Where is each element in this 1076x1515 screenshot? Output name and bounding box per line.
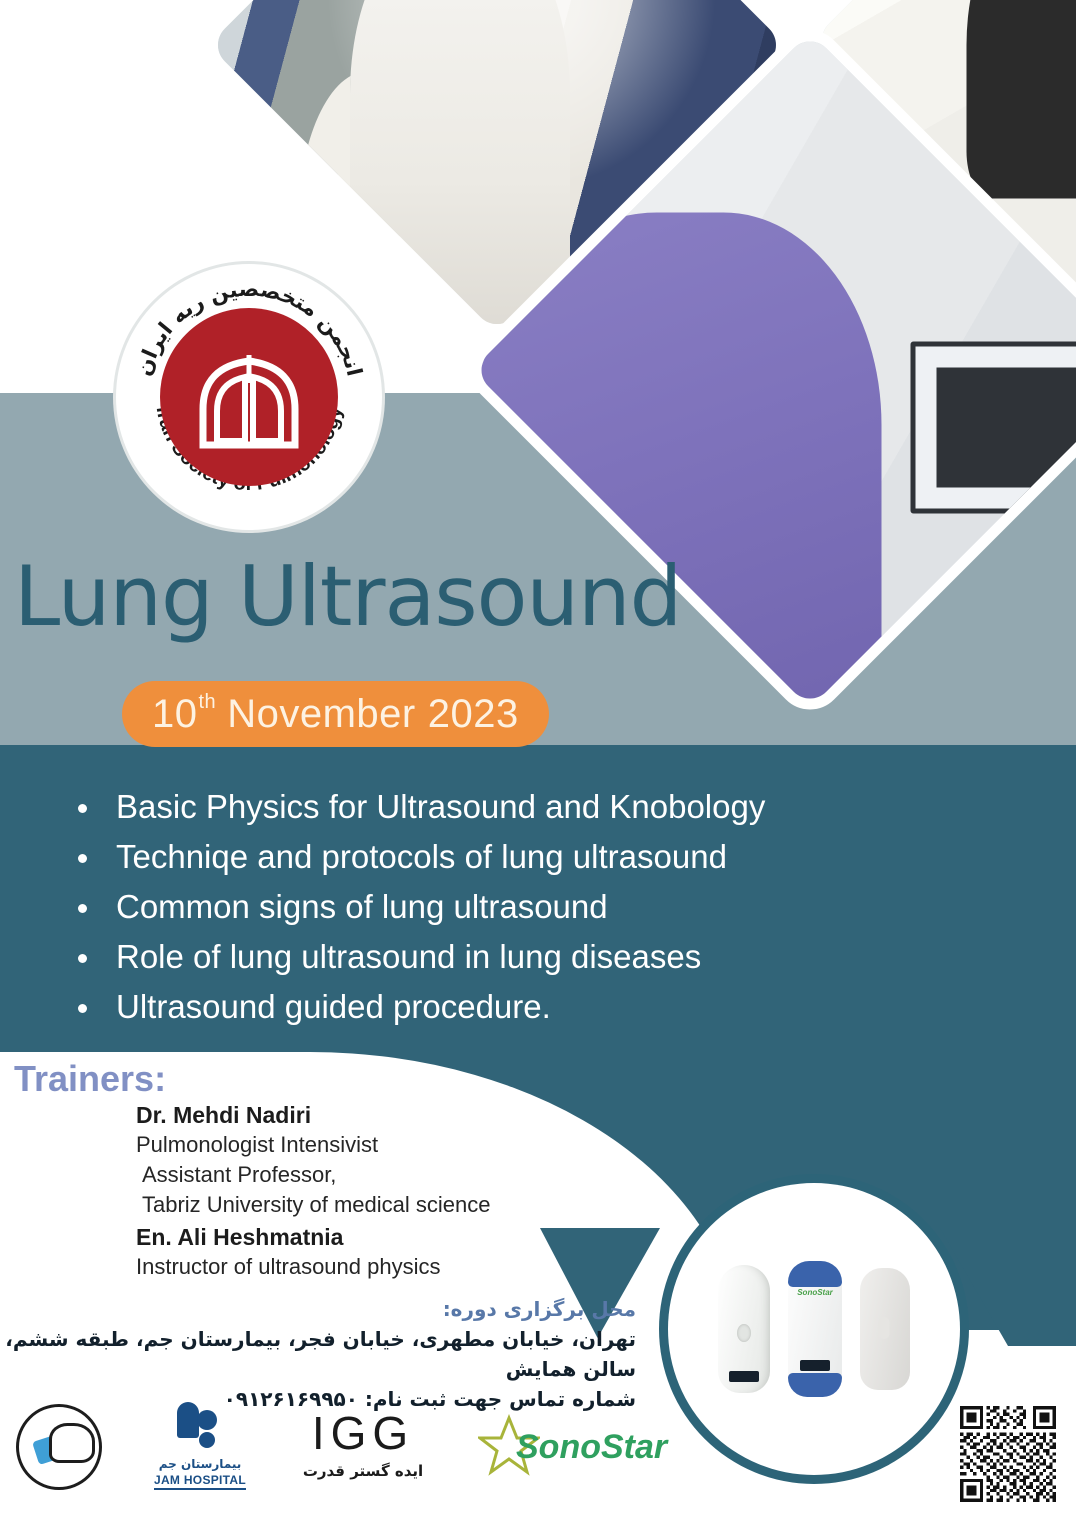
qr-code — [960, 1406, 1056, 1502]
trainer-detail: Tabriz University of medical science — [136, 1190, 490, 1220]
trainer-entry: En. Ali Heshmatnia Instructor of ultraso… — [136, 1222, 440, 1282]
venue-info: محل برگزاری دوره: تهران، خیابان مطهری، خ… — [0, 1294, 636, 1414]
venue-address: تهران، خیابان مطهری، خیابان فجر، بیمارست… — [0, 1324, 636, 1384]
list-item: Common signs of lung ultrasound — [72, 882, 765, 932]
jam-name-en: JAM HOSPITAL — [154, 1473, 246, 1490]
footer-logos: بیمارستان جم JAM HOSPITAL IGG ایده گستر … — [0, 1398, 1076, 1515]
topic-text: Role of lung ultrasound in lung diseases — [116, 938, 701, 975]
igg-name-fa: ایده گستر قدرت — [268, 1462, 458, 1480]
bullet-icon — [78, 804, 87, 813]
probe-grey-icon — [860, 1268, 910, 1390]
society-logo: انجمن متخصصین ریه ایران Iran Society of … — [116, 264, 382, 530]
poster-root: انجمن متخصصین ریه ایران Iran Society of … — [0, 0, 1076, 1515]
logo-red-disc — [160, 308, 338, 486]
bullet-icon — [78, 1004, 87, 1013]
igg-letters: IGG — [268, 1406, 458, 1460]
trainer-entry: Dr. Mehdi Nadiri Pulmonologist Intensivi… — [136, 1100, 490, 1220]
jam-name-fa: بیمارستان جم — [140, 1457, 260, 1471]
event-date-badge: 10thNovember2023 — [122, 681, 549, 747]
trainer-name: Dr. Mehdi Nadiri — [136, 1100, 490, 1130]
probe-white-icon — [718, 1265, 770, 1393]
date-year: 2023 — [428, 692, 519, 737]
venue-heading: محل برگزاری دوره: — [0, 1294, 636, 1324]
topic-text: Ultrasound guided procedure. — [116, 988, 551, 1025]
topics-list: Basic Physics for Ultrasound and Knobolo… — [72, 782, 765, 1032]
sonostar-logo: SonoStar — [478, 1414, 693, 1484]
date-ordinal: th — [199, 691, 217, 714]
list-item: Role of lung ultrasound in lung diseases — [72, 932, 765, 982]
list-item: Ultrasound guided procedure. — [72, 982, 765, 1032]
trainers-heading: Trainers: — [14, 1058, 166, 1100]
probe-blue-icon: SonoStar — [788, 1261, 842, 1397]
bullet-icon — [78, 854, 87, 863]
date-month: November — [227, 692, 416, 737]
date-day: 10 — [152, 692, 198, 737]
hand-probe-icon — [16, 1404, 102, 1490]
jam-mark-icon — [171, 1402, 229, 1454]
page-title: Lung Ultrasound — [14, 548, 681, 645]
sonostar-wordmark: SonoStar — [516, 1428, 667, 1467]
jam-hospital-logo: بیمارستان جم JAM HOSPITAL — [140, 1402, 260, 1490]
bullet-icon — [78, 904, 87, 913]
topic-text: Techniqe and protocols of lung ultrasoun… — [116, 838, 727, 875]
trainer-detail: Assistant Professor, — [136, 1160, 490, 1190]
topic-text: Basic Physics for Ultrasound and Knobolo… — [116, 788, 765, 825]
lung-icon — [193, 353, 305, 449]
trainer-name: En. Ali Heshmatnia — [136, 1222, 440, 1252]
list-item: Basic Physics for Ultrasound and Knobolo… — [72, 782, 765, 832]
trainer-detail: Instructor of ultrasound physics — [136, 1252, 440, 1282]
igg-logo: IGG ایده گستر قدرت — [268, 1406, 458, 1480]
trainer-detail: Pulmonologist Intensivist — [136, 1130, 490, 1160]
list-item: Techniqe and protocols of lung ultrasoun… — [72, 832, 765, 882]
bullet-icon — [78, 954, 87, 963]
topic-text: Common signs of lung ultrasound — [116, 888, 608, 925]
